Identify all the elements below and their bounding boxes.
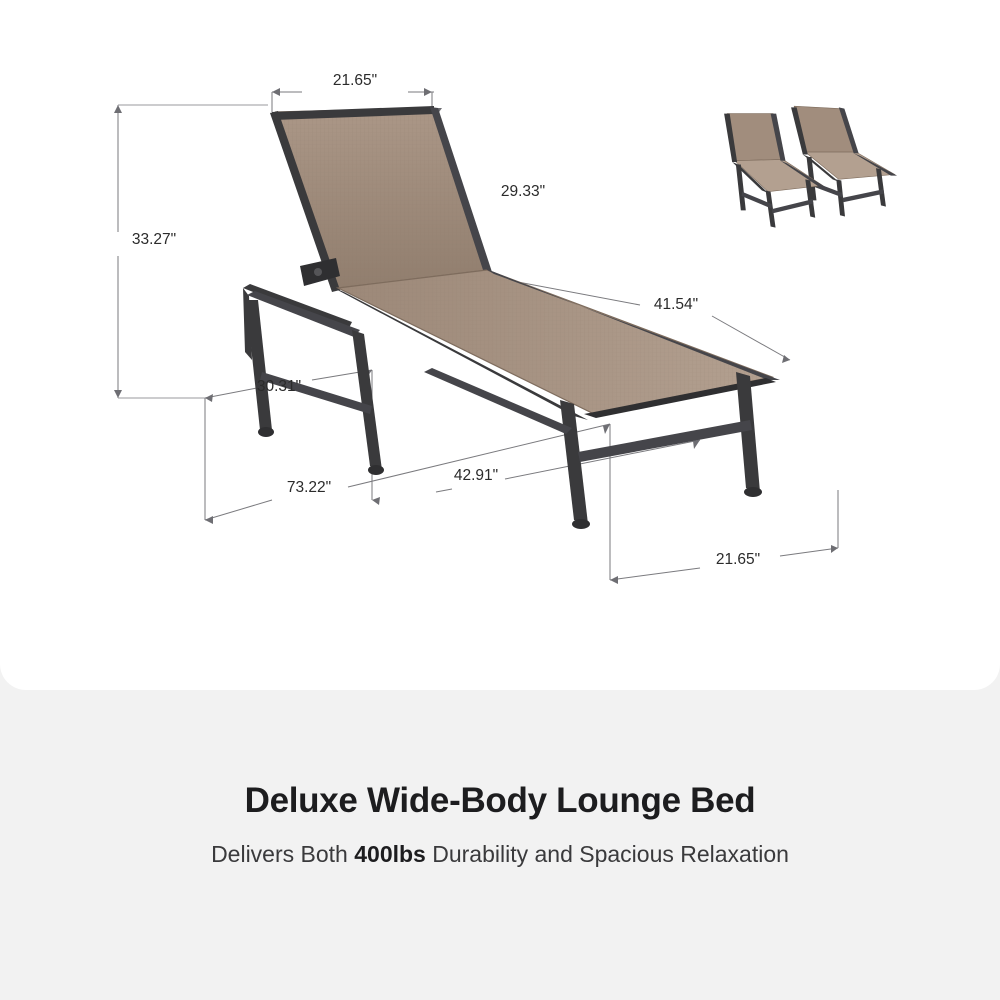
two-chaise-lounge-thumbnail bbox=[724, 106, 897, 228]
dimension-label-top-width: 21.65" bbox=[333, 72, 377, 89]
product-infographic-page: 21.65" 29.33" 33.27" 41.54" 30.31" 73.22… bbox=[0, 0, 1000, 1000]
product-headline: Deluxe Wide-Body Lounge Bed bbox=[0, 780, 1000, 822]
subheadline-suffix: Durability and Spacious Relaxation bbox=[426, 841, 789, 867]
diagram-card: 21.65" 29.33" 33.27" 41.54" 30.31" 73.22… bbox=[0, 0, 1000, 690]
subheadline-prefix: Delivers Both bbox=[211, 841, 354, 867]
dimension-label-total-length: 73.22" bbox=[287, 479, 331, 496]
caption-block: Deluxe Wide-Body Lounge Bed Delivers Bot… bbox=[0, 780, 1000, 869]
dimension-label-backrest-length: 29.33" bbox=[501, 183, 545, 200]
dimension-label-seat-depth: 30.31" bbox=[257, 378, 301, 395]
dimension-label-overall-height: 33.27" bbox=[132, 231, 176, 248]
product-subheadline: Delivers Both 400lbs Durability and Spac… bbox=[0, 841, 1000, 869]
subheadline-highlight: 400lbs bbox=[354, 841, 426, 867]
chaise-lounge-main-illustration bbox=[243, 106, 780, 529]
dimension-label-lower-length: 42.91" bbox=[454, 467, 498, 484]
dimension-label-seat-length: 41.54" bbox=[654, 296, 698, 313]
chaise-lounge-dimension-diagram: 21.65" 29.33" 33.27" 41.54" 30.31" 73.22… bbox=[0, 0, 1000, 690]
dimension-label-base-width: 21.65" bbox=[716, 551, 760, 568]
